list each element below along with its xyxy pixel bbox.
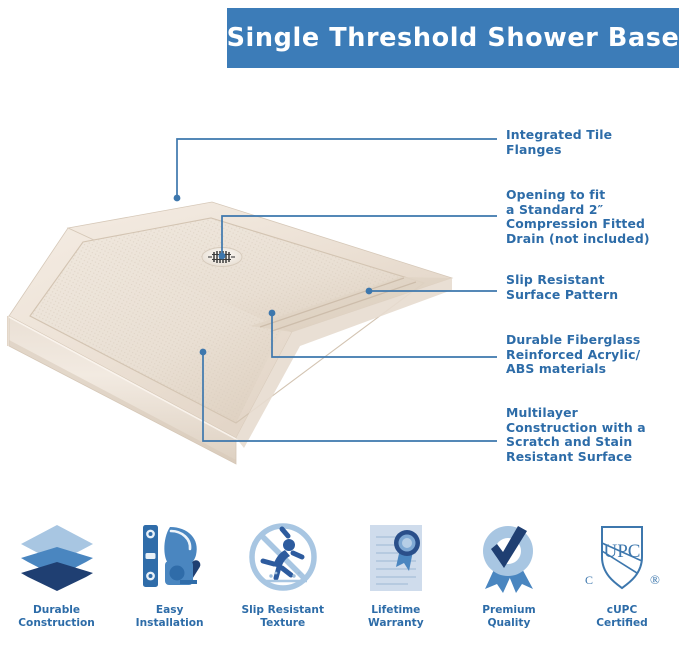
layers-icon (11, 518, 103, 598)
drain-grate (202, 248, 242, 267)
callout-integrated-tile-flanges: Integrated Tile Flanges (506, 128, 612, 157)
upc-shield-text: UPC (604, 541, 641, 562)
feature-label: Premium Quality (482, 604, 535, 629)
certificate-icon (350, 518, 442, 598)
no-slip-icon (237, 518, 329, 598)
feature-label: Lifetime Warranty (368, 604, 424, 629)
shower-base-illustration (0, 150, 470, 510)
title-banner: Single Threshold Shower Base (227, 8, 679, 68)
upc-registered-mark: ® (650, 572, 660, 587)
feature-strip: Durable Construction (0, 512, 679, 652)
upc-shield-icon: UPC C ® (576, 518, 668, 598)
upc-c-mark: C (585, 573, 593, 587)
feature-easy-installation: Easy Installation (113, 512, 226, 652)
feature-durable-construction: Durable Construction (0, 512, 113, 652)
callout-durable-materials: Durable Fiberglass Reinforced Acrylic/ A… (506, 333, 640, 377)
callout-drain-opening: Opening to fit a Standard 2″ Compression… (506, 188, 650, 246)
feature-label: cUPC Certified (596, 604, 648, 629)
infographic-page: Single Threshold Shower Base (0, 0, 679, 652)
trowel-level-icon (124, 518, 216, 598)
feature-label: Slip Resistant Texture (241, 604, 324, 629)
feature-premium-quality: Premium Quality (452, 512, 565, 652)
callout-multilayer-construction: Multilayer Construction with a Scratch a… (506, 406, 646, 464)
page-title: Single Threshold Shower Base (227, 23, 679, 53)
feature-lifetime-warranty: Lifetime Warranty (339, 512, 452, 652)
feature-label: Durable Construction (18, 604, 95, 629)
feature-slip-resistant-texture: Slip Resistant Texture (226, 512, 339, 652)
product-image (0, 150, 470, 510)
feature-cupc-certified: UPC C ® cUPC Certified (565, 512, 678, 652)
callout-slip-resistant-surface: Slip Resistant Surface Pattern (506, 273, 618, 302)
check-rosette-icon (463, 518, 555, 598)
feature-label: Easy Installation (136, 604, 204, 629)
